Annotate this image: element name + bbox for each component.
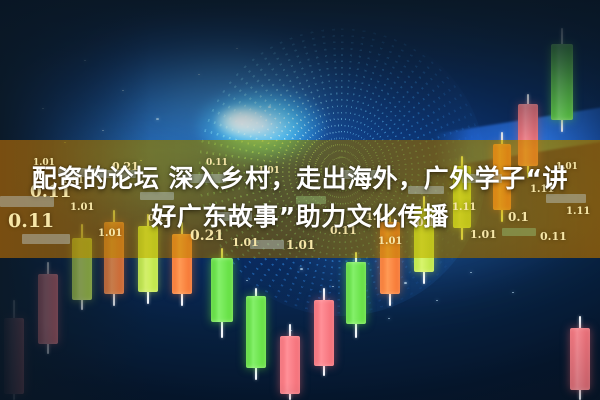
ticker-number: 1.01 [286,238,315,252]
headline-line-2: 好广东故事”助力文化传播 [8,198,592,236]
ticker-number: 1.01 [378,236,402,247]
page-title: 配资的论坛 深入乡村，走出海外，广外学子“讲 好广东故事”助力文化传播 [0,160,600,236]
banner-image: 0.110.111.011.011.010.211.010.110.211.01… [0,0,600,400]
headline-line-1: 配资的论坛 深入乡村，走出海外，广外学子“讲 [32,164,568,193]
ticker-number: 1.01 [232,236,259,249]
